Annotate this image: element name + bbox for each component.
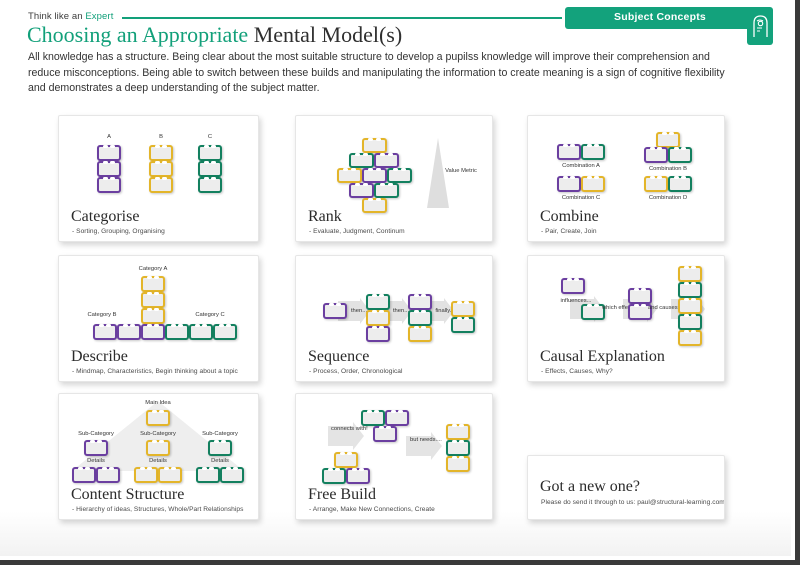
brick xyxy=(158,467,182,483)
page-title: Choosing an Appropriate Mental Model(s) xyxy=(27,22,402,48)
eyebrow-text: Think like an Expert xyxy=(28,11,113,22)
card-subtitle: - Hierarchy of ideas, Structures, Whole/… xyxy=(72,506,243,513)
card-subtitle: - Arrange, Make New Connections, Create xyxy=(309,506,435,513)
brick xyxy=(97,145,121,161)
brick xyxy=(198,177,222,193)
brick xyxy=(557,144,581,160)
brick xyxy=(373,426,397,442)
brick xyxy=(196,467,220,483)
brick xyxy=(366,294,390,310)
page-title-rest: Mental Model(s) xyxy=(254,22,402,47)
brick xyxy=(146,440,170,456)
brick xyxy=(84,440,108,456)
brick xyxy=(362,138,387,153)
subject-concepts-label: Subject Concepts xyxy=(565,11,755,23)
brick xyxy=(346,468,370,484)
content-label-subcat-2: Sub-Category xyxy=(131,431,185,437)
combine-label-b: Combination B xyxy=(633,166,703,172)
brick xyxy=(446,456,470,472)
brick xyxy=(408,326,432,342)
brick xyxy=(644,176,668,192)
brick xyxy=(149,177,173,193)
brick xyxy=(208,440,232,456)
brick xyxy=(198,161,222,177)
brick xyxy=(97,177,121,193)
brick xyxy=(557,176,581,192)
brick xyxy=(134,467,158,483)
card-title: Got a new one? xyxy=(540,478,640,496)
card-causal-explanation[interactable]: influences... which effects... and cause… xyxy=(527,255,725,382)
card-title: Categorise xyxy=(71,208,139,226)
brick xyxy=(678,282,702,298)
brick xyxy=(362,198,387,213)
brick xyxy=(213,324,237,340)
card-combine[interactable]: Combination A Combination B Combination … xyxy=(527,115,725,242)
card-title: Causal Explanation xyxy=(540,348,665,366)
card-title: Content Structure xyxy=(71,486,184,504)
brick xyxy=(408,294,432,310)
card-rank[interactable]: Value Metric Rank - Evaluate, Judgment, … xyxy=(295,115,493,242)
rank-label-value-metric: Value Metric xyxy=(438,168,484,174)
brick xyxy=(385,410,409,426)
brick xyxy=(581,176,605,192)
combine-label-c: Combination C xyxy=(546,195,616,201)
brick xyxy=(451,317,475,333)
brick xyxy=(362,168,387,183)
head-profile-icon xyxy=(747,7,773,45)
brick xyxy=(189,324,213,340)
brick xyxy=(361,410,385,426)
brick xyxy=(451,301,475,317)
card-subtitle: Please do send it through to us: paul@st… xyxy=(541,499,725,506)
content-label-subcat-3: Sub-Category xyxy=(193,431,247,437)
brick xyxy=(678,330,702,346)
value-metric-triangle xyxy=(421,138,455,210)
card-subtitle: - Sorting, Grouping, Organising xyxy=(72,228,165,235)
brick xyxy=(334,452,358,468)
brick xyxy=(668,147,692,163)
card-title: Describe xyxy=(71,348,128,366)
brick xyxy=(678,266,702,282)
brick xyxy=(366,310,390,326)
browser-viewport: Think like an Expert Subject Concepts Ch… xyxy=(0,0,799,564)
brick xyxy=(141,276,165,292)
slide-page: Think like an Expert Subject Concepts Ch… xyxy=(0,0,791,556)
card-title: Combine xyxy=(540,208,599,226)
brick xyxy=(117,324,141,340)
brick xyxy=(374,183,399,198)
brick xyxy=(656,132,680,148)
describe-label-category-a: Category A xyxy=(128,266,178,272)
brick xyxy=(165,324,189,340)
brick xyxy=(72,467,96,483)
content-label-subcat-1: Sub-Category xyxy=(69,431,123,437)
card-subtitle: - Effects, Causes, Why? xyxy=(541,368,613,375)
brick xyxy=(678,314,702,330)
brick xyxy=(668,176,692,192)
combine-label-d: Combination D xyxy=(633,195,703,201)
card-got-a-new-one[interactable]: Got a new one? Please do send it through… xyxy=(527,455,725,520)
card-free-build[interactable]: connects with! but needs.... Free Build … xyxy=(295,393,493,520)
brick xyxy=(366,326,390,342)
brick xyxy=(220,467,244,483)
brick xyxy=(561,278,585,294)
card-title: Rank xyxy=(308,208,342,226)
eyebrow-prefix: Think like an xyxy=(28,11,85,22)
card-subtitle: - Mindmap, Characteristics, Begin thinki… xyxy=(72,368,238,375)
brick xyxy=(149,161,173,177)
brick xyxy=(146,410,170,426)
card-sequence[interactable]: then... then... finally... Sequence - Pr… xyxy=(295,255,493,382)
categorise-label-c: C xyxy=(200,134,220,140)
free-build-label-connects: connects with! xyxy=(331,425,361,433)
brick xyxy=(323,303,347,319)
brick xyxy=(374,153,399,168)
brick xyxy=(408,310,432,326)
card-title: Free Build xyxy=(308,486,376,504)
categorise-label-a: A xyxy=(99,134,119,140)
content-label-details-1: Details xyxy=(77,458,115,464)
describe-label-category-c: Category C xyxy=(185,312,235,318)
categorise-label-b: B xyxy=(151,134,171,140)
content-label-details-2: Details xyxy=(139,458,177,464)
brick xyxy=(141,308,165,324)
brick xyxy=(349,153,374,168)
brick xyxy=(644,147,668,163)
card-describe[interactable]: Category A Category B Category C Describ… xyxy=(58,255,259,382)
brick xyxy=(149,145,173,161)
brick xyxy=(446,440,470,456)
eyebrow-accent: Expert xyxy=(85,11,113,22)
brick xyxy=(446,424,470,440)
describe-label-category-b: Category B xyxy=(77,312,127,318)
brick xyxy=(97,161,121,177)
free-build-label-but-needs: but needs.... xyxy=(410,436,440,444)
brick xyxy=(628,288,652,304)
card-content-structure[interactable]: Main Idea Sub-Category Sub-Category Sub-… xyxy=(58,393,259,520)
card-subtitle: - Evaluate, Judgment, Continum xyxy=(309,228,405,235)
causal-label-and-causes: and causes... xyxy=(648,304,678,312)
brick xyxy=(198,145,222,161)
page-title-highlight: Choosing an Appropriate xyxy=(27,22,254,47)
brick xyxy=(337,168,362,183)
brick xyxy=(387,168,412,183)
intro-paragraph: All knowledge has a structure. Being cle… xyxy=(28,50,738,97)
card-categorise[interactable]: A B C Categorise - Sorting, Grouping, Or… xyxy=(58,115,259,242)
brick xyxy=(322,468,346,484)
header-divider-line xyxy=(122,17,562,19)
combine-label-a: Combination A xyxy=(546,163,616,169)
brick xyxy=(141,292,165,308)
brick xyxy=(93,324,117,340)
card-title: Sequence xyxy=(308,348,369,366)
brick xyxy=(141,324,165,340)
content-label-details-3: Details xyxy=(201,458,239,464)
card-subtitle: - Pair, Create, Join xyxy=(541,228,597,235)
brick xyxy=(581,144,605,160)
brick xyxy=(96,467,120,483)
content-label-main-idea: Main Idea xyxy=(133,400,183,406)
brick xyxy=(678,298,702,314)
brick xyxy=(349,183,374,198)
card-subtitle: - Process, Order, Chronological xyxy=(309,368,403,375)
